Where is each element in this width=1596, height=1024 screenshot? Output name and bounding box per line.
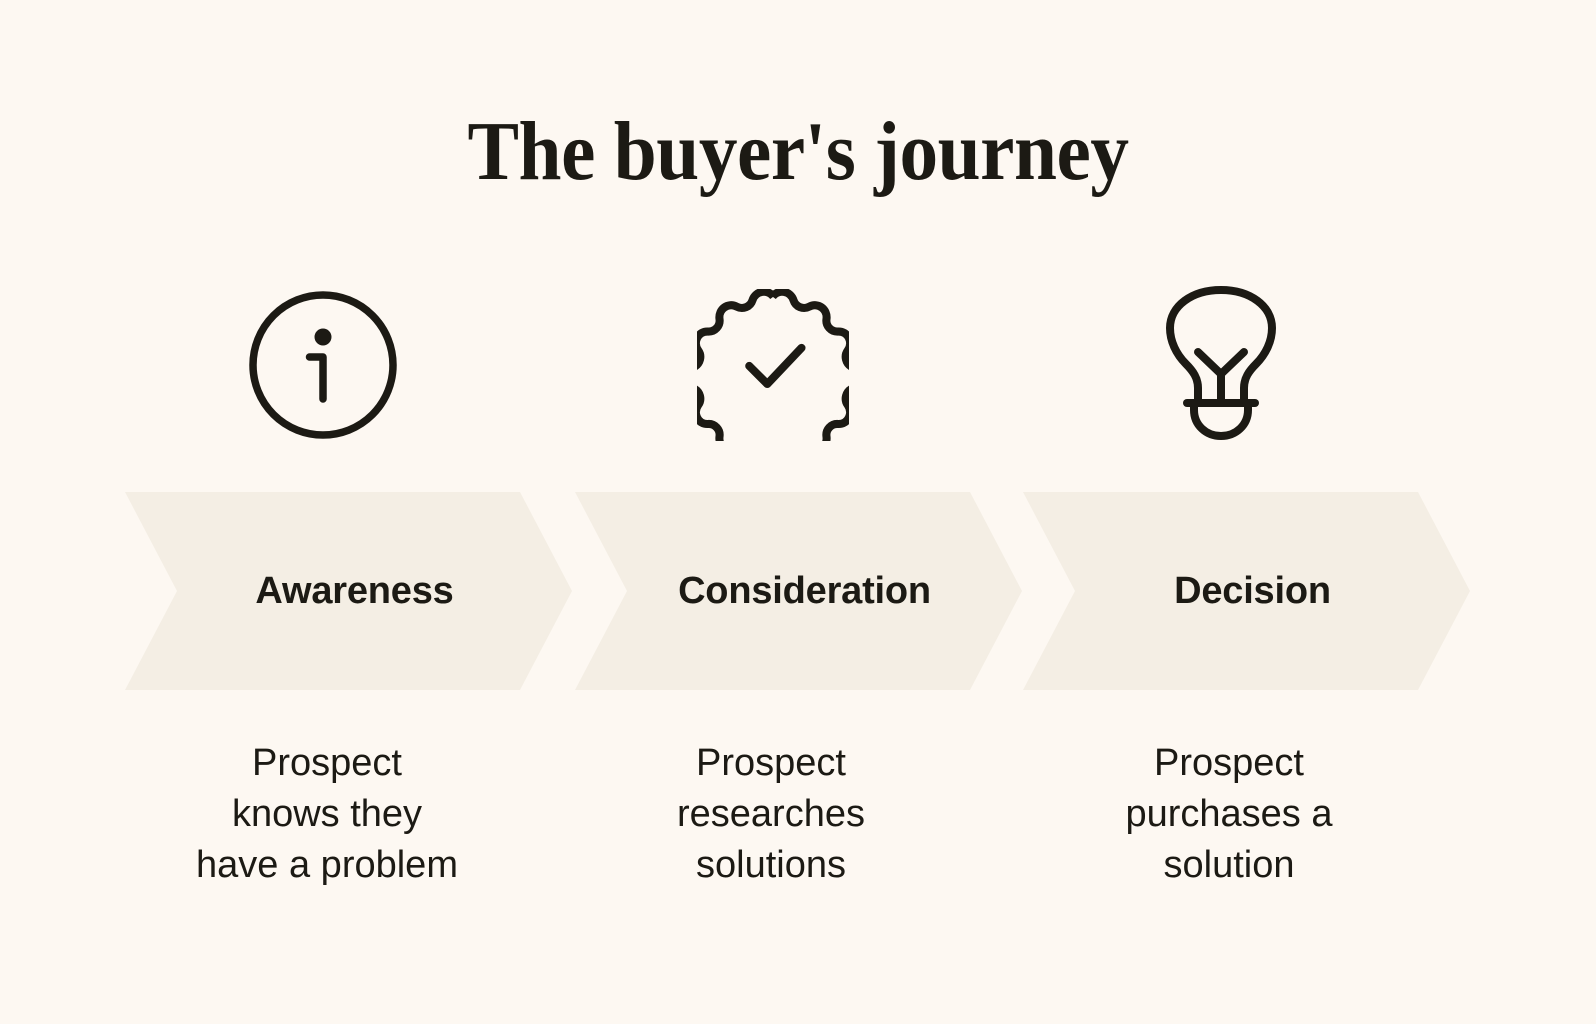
lightbulb-icon [1023, 282, 1418, 447]
stage-label-consideration: Consideration [575, 492, 1022, 690]
stage-description-awareness: Prospect knows they have a problem [117, 738, 537, 891]
verified-badge-check-icon [575, 282, 970, 447]
stage-description-consideration: Prospect researches solutions [561, 738, 981, 891]
stage-label-decision: Decision [1023, 492, 1470, 690]
stage-label-awareness: Awareness [125, 492, 572, 690]
stage-list: Awareness Prospect knows they have a pro… [0, 0, 1596, 1024]
buyers-journey-infographic: The buyer's journey Awareness Prospect k… [0, 0, 1596, 1024]
stage-description-decision: Prospect purchases a solution [1019, 738, 1439, 891]
info-circle-icon [125, 282, 520, 447]
stage-awareness: Awareness Prospect knows they have a pro… [125, 0, 572, 1024]
stage-consideration: Consideration Prospect researches soluti… [575, 0, 1022, 1024]
stage-decision: Decision Prospect purchases a solution [1023, 0, 1470, 1024]
